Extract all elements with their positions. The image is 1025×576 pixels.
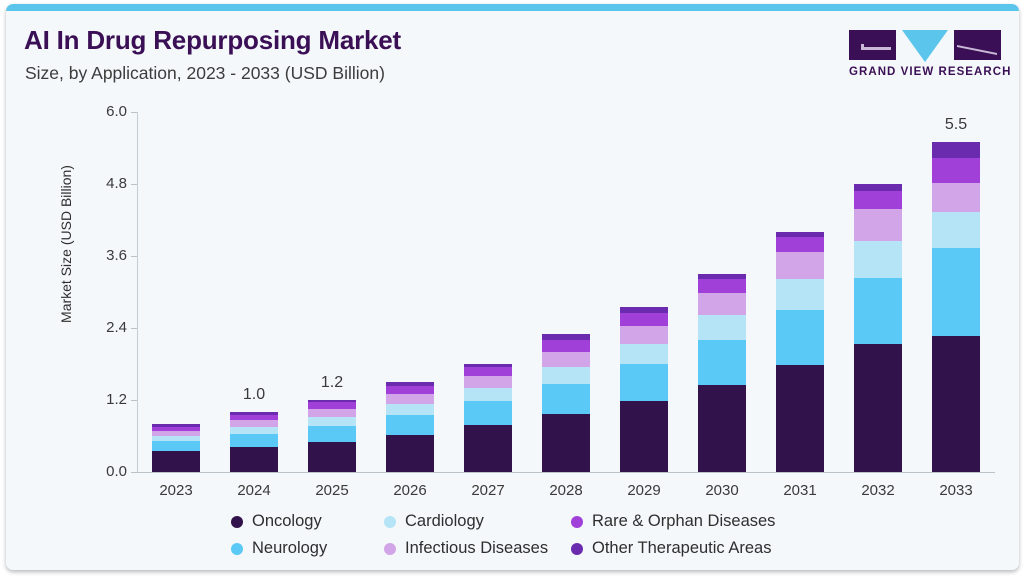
bar-segment-rare-orphan-diseases[interactable] [308,402,356,409]
y-axis-title: Market Size (USD Billion) [58,134,74,354]
y-tick-mark [131,256,137,257]
bar-segment-rare-orphan-diseases[interactable] [854,191,902,209]
legend-item-oncology[interactable]: Oncology [231,512,322,531]
x-tick-label-2023: 2023 [136,482,216,499]
bar-segment-oncology[interactable] [854,344,902,472]
bar-segment-infectious-diseases[interactable] [308,409,356,417]
bar-segment-oncology[interactable] [776,365,824,472]
bar-segment-oncology[interactable] [698,385,746,472]
bar-segment-neurology[interactable] [152,441,200,451]
bar-segment-rare-orphan-diseases[interactable] [542,340,590,352]
bar-segment-cardiology[interactable] [542,367,590,384]
legend-label: Neurology [252,539,327,558]
bar-segment-rare-orphan-diseases[interactable] [698,279,746,293]
y-tick-label: 2.4 [87,319,127,336]
legend-color-swatch-icon [384,516,396,528]
bar-segment-rare-orphan-diseases[interactable] [620,313,668,326]
legend-color-swatch-icon [384,543,396,555]
bar-segment-cardiology[interactable] [464,388,512,401]
legend-item-other-therapeutic-areas[interactable]: Other Therapeutic Areas [571,539,771,558]
bar-value-label-2025: 1.2 [292,374,372,392]
bar-segment-cardiology[interactable] [230,427,278,434]
bar-segment-neurology[interactable] [308,426,356,442]
y-tick-label: 0.0 [87,463,127,480]
legend-label: Other Therapeutic Areas [592,539,771,558]
bar-segment-oncology[interactable] [464,425,512,472]
y-tick-label: 6.0 [87,103,127,120]
x-axis-line [137,472,995,473]
bar-segment-neurology[interactable] [230,434,278,447]
bar-segment-oncology[interactable] [386,435,434,472]
bar-segment-other-therapeutic-areas[interactable] [932,142,980,158]
bar-segment-oncology[interactable] [308,442,356,472]
bar-segment-cardiology[interactable] [698,315,746,340]
legend-item-cardiology[interactable]: Cardiology [384,512,484,531]
bar-segment-neurology[interactable] [932,248,980,336]
x-tick-label-2028: 2028 [526,482,606,499]
bar-segment-oncology[interactable] [152,451,200,472]
bar-value-label-2033: 5.5 [916,116,996,134]
bar-segment-infectious-diseases[interactable] [776,252,824,279]
bar-segment-neurology[interactable] [542,384,590,414]
bar-2025[interactable] [308,400,356,472]
legend-color-swatch-icon [231,516,243,528]
x-tick-label-2026: 2026 [370,482,450,499]
bar-segment-cardiology[interactable] [932,212,980,248]
bar-segment-neurology[interactable] [854,278,902,344]
x-tick-label-2027: 2027 [448,482,528,499]
legend-color-swatch-icon [231,543,243,555]
x-tick-label-2029: 2029 [604,482,684,499]
y-tick-label: 4.8 [87,175,127,192]
y-axis-line [137,112,138,473]
x-tick-label-2032: 2032 [838,482,918,499]
bar-segment-oncology[interactable] [230,447,278,472]
bar-segment-infectious-diseases[interactable] [932,183,980,212]
legend-label: Rare & Orphan Diseases [592,512,775,531]
legend-color-swatch-icon [571,516,583,528]
legend-label: Infectious Diseases [405,539,548,558]
bar-2030[interactable] [698,274,746,472]
bar-segment-cardiology[interactable] [308,417,356,426]
legend-item-neurology[interactable]: Neurology [231,539,327,558]
bar-2028[interactable] [542,334,590,472]
x-tick-label-2030: 2030 [682,482,762,499]
x-tick-label-2025: 2025 [292,482,372,499]
bar-segment-oncology[interactable] [620,401,668,472]
bar-segment-cardiology[interactable] [776,279,824,310]
legend-color-swatch-icon [571,543,583,555]
bar-segment-infectious-diseases[interactable] [542,352,590,367]
bar-segment-neurology[interactable] [776,310,824,365]
bar-segment-cardiology[interactable] [854,241,902,278]
y-tick-mark [131,400,137,401]
bar-2027[interactable] [464,364,512,472]
y-tick-mark [131,184,137,185]
bar-segment-oncology[interactable] [932,336,980,472]
y-tick-mark [131,472,137,473]
stacked-bar-chart: Market Size (USD Billion) 0.01.22.43.64.… [6,4,1019,570]
bar-segment-rare-orphan-diseases[interactable] [932,158,980,183]
bar-segment-neurology[interactable] [620,364,668,401]
legend-item-infectious-diseases[interactable]: Infectious Diseases [384,539,548,558]
bar-2033[interactable] [932,142,980,472]
y-tick-label: 1.2 [87,391,127,408]
bar-segment-infectious-diseases[interactable] [620,326,668,344]
y-tick-label: 3.6 [87,247,127,264]
bar-2031[interactable] [776,232,824,472]
chart-card: AI In Drug Repurposing Market Size, by A… [6,4,1019,570]
bar-segment-rare-orphan-diseases[interactable] [386,386,434,394]
bar-2032[interactable] [854,184,902,472]
bar-segment-neurology[interactable] [386,415,434,435]
bar-segment-infectious-diseases[interactable] [386,394,434,404]
bar-segment-infectious-diseases[interactable] [854,209,902,241]
x-tick-label-2033: 2033 [916,482,996,499]
bar-segment-cardiology[interactable] [386,404,434,415]
bar-segment-infectious-diseases[interactable] [230,420,278,427]
bar-2023[interactable] [152,424,200,472]
chart-legend: OncologyNeurologyCardiologyInfectious Di… [231,512,811,564]
bar-2026[interactable] [386,382,434,472]
y-tick-mark [131,112,137,113]
x-tick-label-2024: 2024 [214,482,294,499]
bar-segment-other-therapeutic-areas[interactable] [854,184,902,191]
y-tick-mark [131,328,137,329]
bar-segment-cardiology[interactable] [620,344,668,364]
x-tick-label-2031: 2031 [760,482,840,499]
bar-segment-rare-orphan-diseases[interactable] [464,367,512,376]
bar-segment-infectious-diseases[interactable] [464,376,512,388]
bar-2029[interactable] [620,307,668,472]
bar-segment-rare-orphan-diseases[interactable] [776,237,824,252]
bar-value-label-2024: 1.0 [214,386,294,404]
bar-segment-infectious-diseases[interactable] [698,293,746,315]
legend-label: Oncology [252,512,322,531]
bar-segment-neurology[interactable] [698,340,746,385]
bar-segment-oncology[interactable] [542,414,590,472]
legend-label: Cardiology [405,512,484,531]
bar-2024[interactable] [230,412,278,472]
legend-item-rare-orphan-diseases[interactable]: Rare & Orphan Diseases [571,512,775,531]
bar-segment-neurology[interactable] [464,401,512,425]
